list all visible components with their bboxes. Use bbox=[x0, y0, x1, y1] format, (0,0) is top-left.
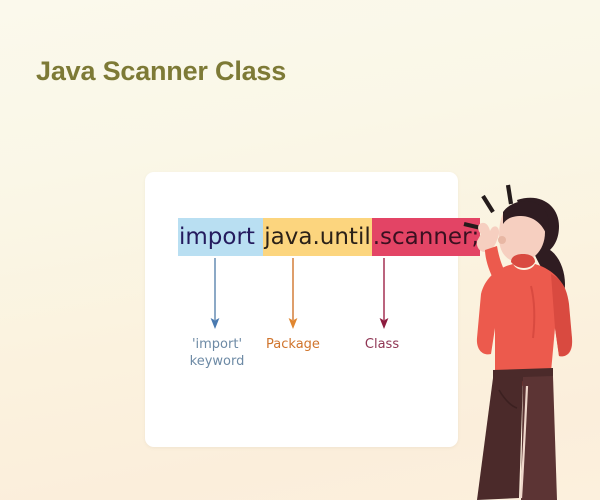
annotation-label-import: 'import' keyword bbox=[180, 336, 254, 370]
code-segment-package-name: java.until bbox=[263, 218, 371, 256]
pant-leg-left bbox=[477, 377, 523, 500]
arrow-down-icon-package bbox=[286, 258, 300, 330]
slide-canvas: Java Scanner Class import java.until .sc… bbox=[0, 0, 600, 500]
diagram-card bbox=[145, 172, 458, 447]
sweater-arm-shadow bbox=[551, 274, 572, 356]
annotation-label-package: Package bbox=[253, 336, 333, 353]
code-snippet: import java.until .scanner; bbox=[178, 218, 480, 256]
code-segment-import-keyword: import bbox=[178, 218, 263, 256]
woman-thinking-illustration bbox=[455, 178, 600, 500]
arrow-down-icon-class bbox=[377, 258, 391, 330]
annotation-label-class: Class bbox=[345, 336, 419, 353]
ear bbox=[498, 236, 506, 244]
arrow-down-icon-import bbox=[208, 258, 222, 330]
page-title: Java Scanner Class bbox=[36, 56, 286, 87]
collar bbox=[511, 254, 535, 268]
